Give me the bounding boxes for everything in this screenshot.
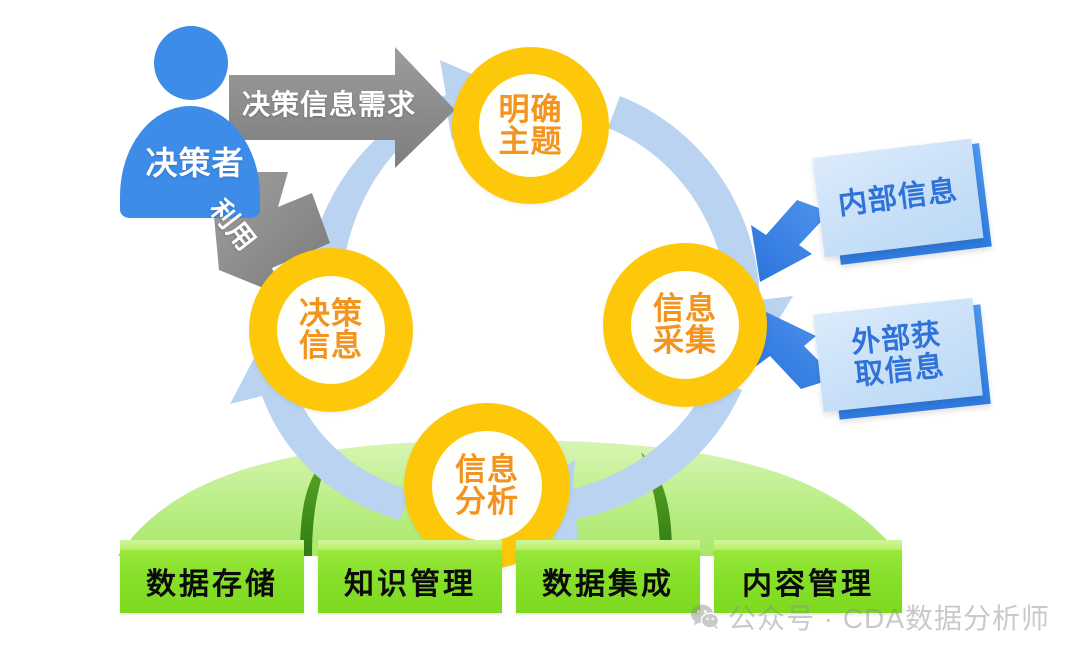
foundation-block-data-storage-label: 数据存储	[146, 559, 278, 603]
foundation-block-knowledge-management-label: 知识管理	[344, 559, 476, 603]
cycle-node-topic-inner: 明确 主题	[479, 74, 582, 177]
source-card-external-face: 外部获 取信息	[813, 298, 982, 412]
cycle-node-topic-line2: 主题	[499, 126, 563, 158]
cycle-node-decision-info-inner: 决策 信息	[277, 276, 385, 384]
decision-demand-arrow-label: 决策信息需求	[242, 83, 432, 123]
watermark-text: 公众号 · CDA数据分析师	[728, 597, 1050, 637]
cycle-node-analyze-line2: 分析	[455, 486, 519, 518]
decision-maker-actor[interactable]: 决策者	[120, 26, 260, 216]
cycle-node-analyze-line1: 信息	[455, 454, 519, 486]
foundation-block-data-integration[interactable]: 数据集成	[516, 549, 700, 613]
cycle-node-topic-line1: 明确	[499, 94, 563, 126]
cycle-node-analyze-inner: 信息 分析	[432, 431, 542, 541]
cycle-node-decision-info[interactable]: 决策 信息	[249, 248, 413, 412]
cycle-node-collect-line2: 采集	[653, 325, 717, 357]
cycle-node-collect-inner: 信息 采集	[631, 271, 739, 379]
diagram-canvas: 决策者 决策信息需求 利用 明确 主题 信息 采集 信息 分析 决策 信息	[0, 0, 1080, 654]
foundation-block-knowledge-management[interactable]: 知识管理	[318, 549, 502, 613]
source-card-internal-face: 内部信息	[813, 139, 984, 258]
cycle-node-topic[interactable]: 明确 主题	[452, 47, 609, 204]
wechat-icon	[690, 602, 720, 632]
watermark: 公众号 · CDA数据分析师	[690, 597, 1050, 637]
foundation-block-data-storage[interactable]: 数据存储	[120, 549, 304, 613]
cycle-node-decision-info-line1: 决策	[299, 298, 363, 330]
cycle-node-decision-info-line2: 信息	[299, 330, 363, 362]
foundation-block-content-management-label: 内容管理	[742, 559, 874, 603]
person-head-icon	[154, 26, 228, 100]
source-card-internal[interactable]: 内部信息	[812, 146, 1002, 264]
cycle-node-collect-line1: 信息	[653, 293, 717, 325]
decision-maker-label: 决策者	[120, 138, 270, 184]
foundation-block-data-integration-label: 数据集成	[542, 559, 674, 603]
source-card-internal-line1: 内部信息	[836, 175, 959, 222]
cycle-node-collect[interactable]: 信息 采集	[603, 243, 767, 407]
source-card-external[interactable]: 外部获 取信息	[812, 302, 1002, 424]
